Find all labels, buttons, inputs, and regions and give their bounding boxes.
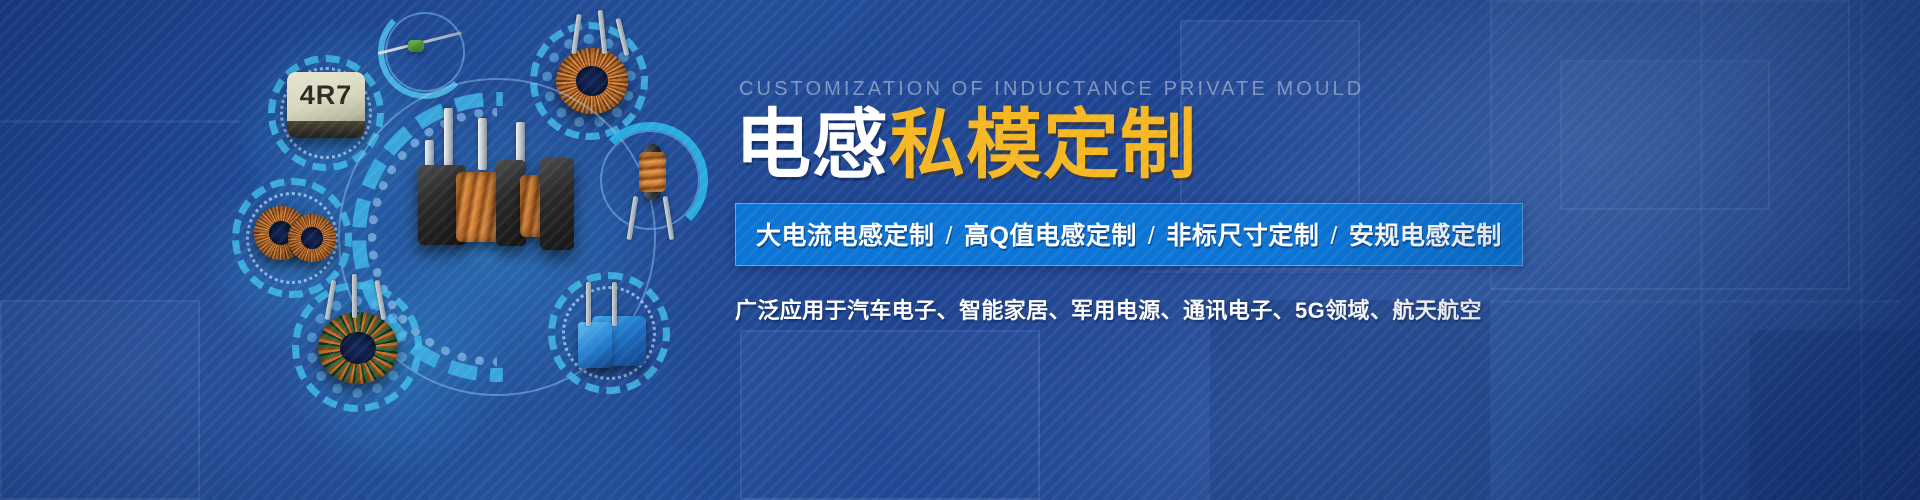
- blue-drum-core-front: [578, 322, 612, 368]
- feature-item-2: 非标尺寸定制: [1166, 222, 1319, 250]
- product-showcase: 4R7: [0, 0, 720, 500]
- choke-bobbin-right: [540, 158, 574, 250]
- page-title: 电感私模定制: [735, 107, 1875, 185]
- feature-item-3: 安规电感定制: [1349, 222, 1502, 250]
- smd-power-inductor: 4R7: [287, 72, 365, 138]
- feature-separator-2: /: [1319, 222, 1348, 250]
- choke-pin: [478, 118, 487, 170]
- feature-list: 大电流电感定制/高Q值电感定制/非标尺寸定制/安规电感定制: [756, 216, 1502, 252]
- eyebrow-text: CUSTOMIZATION OF INDUCTANCE PRIVATE MOUL…: [739, 78, 1875, 101]
- feature-item-1: 高Q值电感定制: [964, 222, 1137, 250]
- feature-separator-1: /: [1137, 222, 1166, 250]
- choke-pin: [444, 108, 453, 168]
- blue-cap-lead: [586, 282, 591, 326]
- promo-banner: 4R7: [0, 0, 1920, 500]
- banner-copy: CUSTOMIZATION OF INDUCTANCE PRIVATE MOUL…: [735, 78, 1875, 325]
- wire-wound-bead: [408, 40, 424, 52]
- feature-ribbon: 大电流电感定制/高Q值电感定制/非标尺寸定制/安规电感定制: [735, 203, 1523, 266]
- smd-inductor-label: 4R7: [287, 80, 365, 111]
- feature-item-0: 大电流电感定制: [756, 222, 935, 250]
- headline-white-part: 电感: [735, 103, 889, 188]
- drum-core-inductor-b: [288, 214, 336, 262]
- blue-cap-lead: [612, 282, 617, 326]
- application-description: 广泛应用于汽车电子、智能家居、军用电源、通讯电子、5G领域、航天航空: [735, 293, 1875, 325]
- green-toroid-lead: [352, 274, 357, 318]
- green-toroid-inductor: [318, 312, 398, 384]
- headline-gold-part: 私模定制: [889, 103, 1197, 188]
- rod-core-coil: [639, 152, 666, 192]
- feature-separator-0: /: [935, 222, 964, 250]
